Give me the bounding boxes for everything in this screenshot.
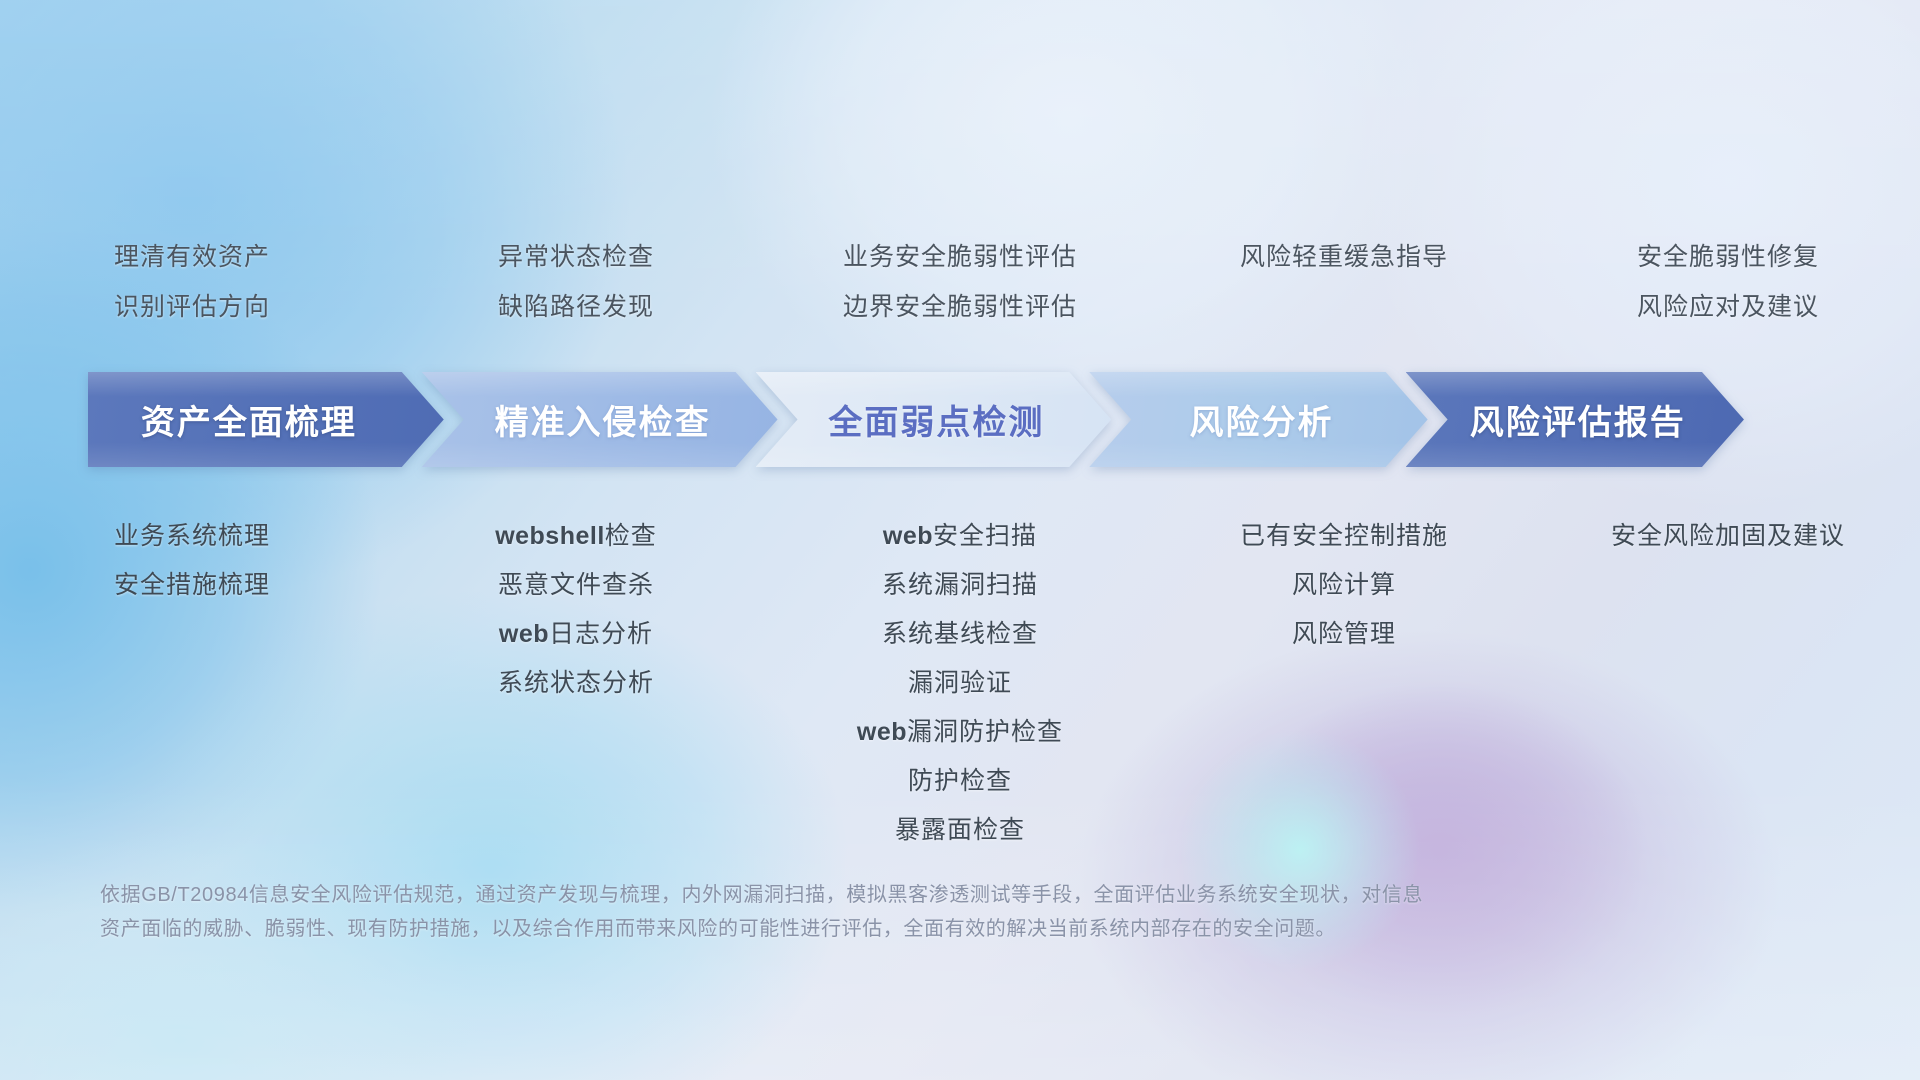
top-note: 识别评估方向 <box>114 282 270 332</box>
top-notes-col-3: 业务安全脆弱性评估边界安全脆弱性评估 <box>768 232 1152 332</box>
process-diagram: 理清有效资产识别评估方向异常状态检查缺陷路径发现业务安全脆弱性评估边界安全脆弱性… <box>0 0 1920 1080</box>
top-note: 边界安全脆弱性评估 <box>843 282 1077 332</box>
top-notes-col-2: 异常状态检查缺陷路径发现 <box>384 232 768 332</box>
process-chevron-band: 资产全面梳理精准入侵检查全面弱点检测风险分析风险评估报告 <box>88 372 1832 467</box>
process-item: 安全风险加固及建议 <box>1611 512 1845 561</box>
top-note: 风险轻重缓急指导 <box>1240 232 1448 282</box>
top-notes-col-5: 安全脆弱性修复风险应对及建议 <box>1536 232 1920 332</box>
process-item: web漏洞防护检查 <box>857 708 1063 757</box>
bottom-items-col-2: webshell检查恶意文件查杀web日志分析系统状态分析 <box>384 512 768 708</box>
process-item: 已有安全控制措施 <box>1240 512 1448 561</box>
process-item: 防护检查 <box>908 757 1012 806</box>
top-note: 异常状态检查 <box>498 232 654 282</box>
top-notes-col-4: 风险轻重缓急指导 <box>1152 232 1536 332</box>
process-stage-3[interactable]: 全面弱点检测 <box>756 372 1112 467</box>
footer-line-1: 依据GB/T20984信息安全风险评估规范，通过资产发现与梳理，内外网漏洞扫描，… <box>100 878 1630 912</box>
process-item: 系统漏洞扫描 <box>882 561 1038 610</box>
top-note: 业务安全脆弱性评估 <box>843 232 1077 282</box>
process-stage-label: 资产全面梳理 <box>141 395 391 444</box>
process-item: 业务系统梳理 <box>114 512 270 561</box>
top-notes-col-1: 理清有效资产识别评估方向 <box>0 232 384 332</box>
process-item: 恶意文件查杀 <box>498 561 654 610</box>
process-stage-5[interactable]: 风险评估报告 <box>1406 372 1744 467</box>
bottom-items-col-5: 安全风险加固及建议 <box>1536 512 1920 561</box>
top-note: 缺陷路径发现 <box>498 282 654 332</box>
bottom-items-row: 业务系统梳理安全措施梳理webshell检查恶意文件查杀web日志分析系统状态分… <box>0 512 1920 855</box>
process-stage-2[interactable]: 精准入侵检查 <box>422 372 778 467</box>
process-item: 系统基线检查 <box>882 610 1038 659</box>
process-item: 漏洞验证 <box>908 659 1012 708</box>
process-item: 安全措施梳理 <box>114 561 270 610</box>
process-item: web安全扫描 <box>883 512 1037 561</box>
top-note: 安全脆弱性修复 <box>1637 232 1819 282</box>
process-item: 风险计算 <box>1292 561 1396 610</box>
bottom-items-col-4: 已有安全控制措施风险计算风险管理 <box>1152 512 1536 659</box>
process-stage-label: 全面弱点检测 <box>798 395 1068 444</box>
process-item: web日志分析 <box>499 610 653 659</box>
process-stage-label: 风险评估报告 <box>1440 395 1710 444</box>
footer-description: 依据GB/T20984信息安全风险评估规范，通过资产发现与梳理，内外网漏洞扫描，… <box>100 878 1630 946</box>
process-stage-1[interactable]: 资产全面梳理 <box>88 372 444 467</box>
process-item: 暴露面检查 <box>895 806 1025 855</box>
process-stage-4[interactable]: 风险分析 <box>1089 372 1427 467</box>
process-stage-label: 风险分析 <box>1159 395 1357 444</box>
footer-line-2: 资产面临的威胁、脆弱性、现有防护措施，以及综合作用而带来风险的可能性进行评估，全… <box>100 912 1630 946</box>
bottom-items-col-1: 业务系统梳理安全措施梳理 <box>0 512 384 610</box>
top-note: 理清有效资产 <box>114 232 270 282</box>
process-item: webshell检查 <box>495 512 657 561</box>
process-item: 系统状态分析 <box>498 659 654 708</box>
top-note: 风险应对及建议 <box>1637 282 1819 332</box>
process-item: 风险管理 <box>1292 610 1396 659</box>
bottom-items-col-3: web安全扫描系统漏洞扫描系统基线检查漏洞验证web漏洞防护检查防护检查暴露面检… <box>768 512 1152 855</box>
process-stage-label: 精准入侵检查 <box>465 395 735 444</box>
top-notes-row: 理清有效资产识别评估方向异常状态检查缺陷路径发现业务安全脆弱性评估边界安全脆弱性… <box>0 232 1920 332</box>
